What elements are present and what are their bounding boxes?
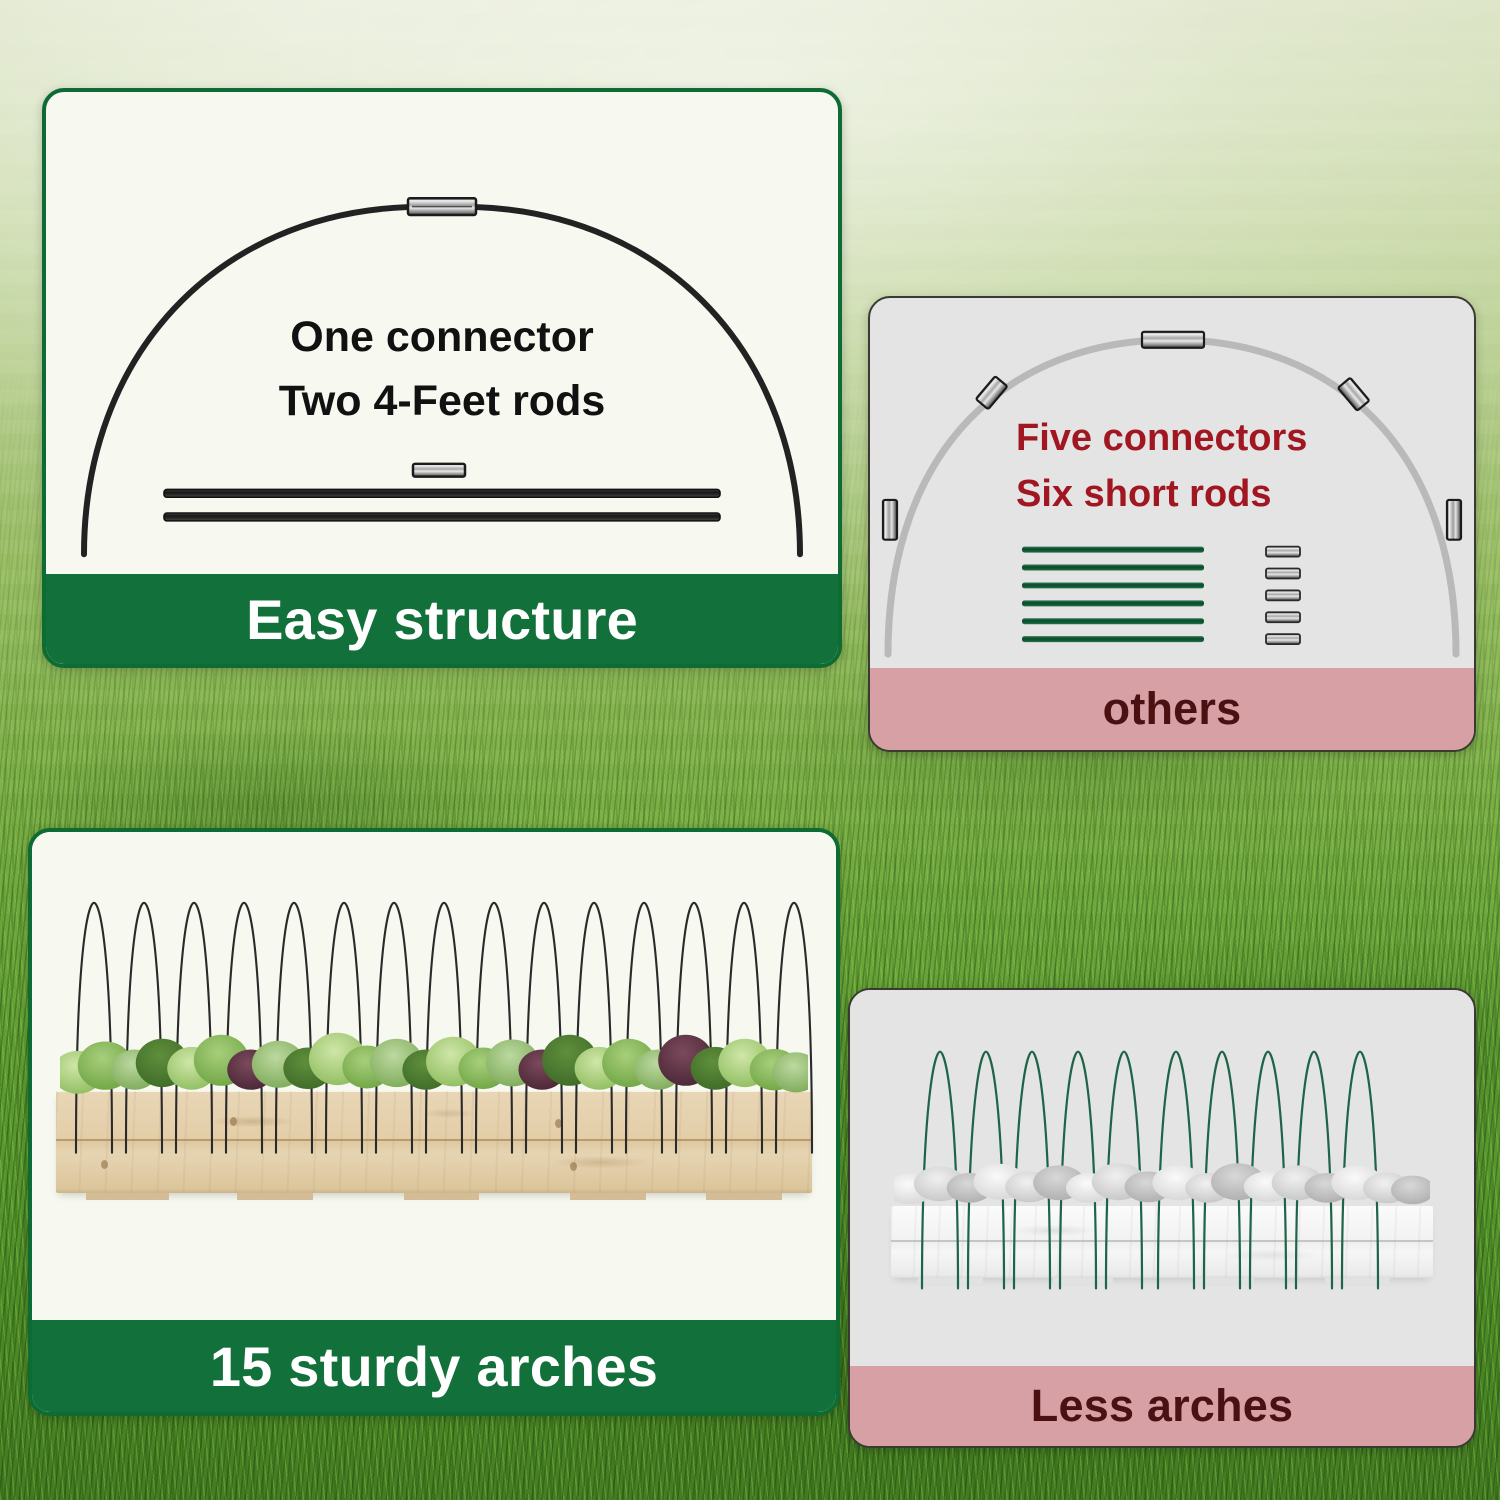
easy-structure-footer-label: Easy structure xyxy=(46,574,838,664)
foliage-color xyxy=(60,1020,808,1101)
panel-others: Five connectors Six short rods others xyxy=(868,296,1476,752)
less-arches-photo xyxy=(850,990,1474,1366)
others-caption-line-2: Six short rods xyxy=(1016,466,1307,522)
easy-structure-caption-line-1: One connector xyxy=(46,306,838,370)
sturdy-arches-footer-label: 15 sturdy arches xyxy=(32,1320,836,1412)
sturdy-arches-scene xyxy=(32,832,836,1320)
less-arches-footer-label: Less arches xyxy=(850,1366,1474,1446)
foliage-desaturated xyxy=(894,1152,1431,1208)
others-caption-line-1: Five connectors xyxy=(1016,410,1307,466)
loose-straight-rods xyxy=(164,489,720,520)
easy-structure-caption: One connector Two 4-Feet rods xyxy=(46,306,838,433)
panel-sturdy-arches: 15 sturdy arches xyxy=(28,828,840,1416)
easy-structure-caption-line-2: Two 4-Feet rods xyxy=(46,370,838,434)
infographic-canvas: One connector Two 4-Feet rods Easy struc… xyxy=(0,0,1500,1500)
others-footer-label: others xyxy=(870,668,1474,750)
others-loose-rods xyxy=(1022,547,1204,642)
easy-structure-diagram: One connector Two 4-Feet rods xyxy=(46,92,838,574)
sturdy-arches-photo xyxy=(32,832,836,1320)
others-loose-connectors xyxy=(1266,547,1300,644)
others-diagram: Five connectors Six short rods xyxy=(870,298,1474,668)
others-caption: Five connectors Six short rods xyxy=(1016,410,1307,522)
panel-less-arches: Less arches xyxy=(848,988,1476,1448)
less-arches-scene xyxy=(850,990,1474,1366)
panel-easy-structure: One connector Two 4-Feet rods Easy struc… xyxy=(42,88,842,668)
loose-connector xyxy=(413,464,465,477)
arch-connector xyxy=(408,198,476,215)
